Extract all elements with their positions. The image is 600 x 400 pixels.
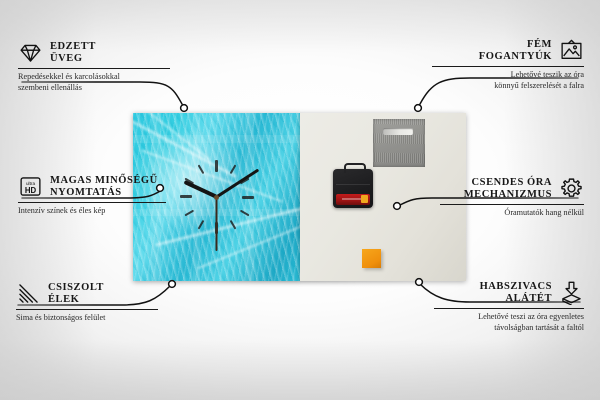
feature-divider [434,308,584,309]
feature-divider [16,309,158,310]
connector-dot-4 [415,105,422,112]
clock-second-hand [216,197,218,251]
feature-habszivacs-alatet[interactable]: HABSZIVACS ALÁTÉT Lehetővé teszi az óra … [434,280,584,333]
feature-title: CSISZOLT ÉLEK [48,282,104,306]
feature-subtitle: Lehetővé teszik az óra könnyű felszerelé… [432,70,584,91]
feature-header: CSISZOLT ÉLEK [16,281,158,306]
clock-center-pivot [214,195,219,200]
feature-csendes-ora-mechanizmus[interactable]: CSENDES ÓRA MECHANIZMUS Óramutatók hang … [440,176,584,219]
battery-label-stripe [342,198,362,200]
mechanism-grip [344,163,366,173]
feature-header: CSENDES ÓRA MECHANIZMUS [440,176,584,201]
feature-fem-fogantyuk[interactable]: FÉM FOGANTYÚK Lehetővé teszik az óra kön… [432,38,584,91]
metal-hanger-plate [373,119,425,167]
clock-mechanism [333,169,373,208]
feature-header: EDZETT ÜVEG [18,40,170,65]
feature-title: CSENDES ÓRA MECHANIZMUS [464,177,552,201]
feature-title: HABSZIVACS ALÁTÉT [480,281,552,305]
feature-divider [432,66,584,67]
feature-subtitle: Sima és biztonságos felület [16,313,158,323]
feature-title: EDZETT ÜVEG [50,41,96,65]
feature-subtitle: Intenzív színek és éles kép [18,206,166,216]
feature-subtitle: Óramutatók hang nélkül [440,208,584,218]
feature-divider [440,204,584,205]
foam-pad-arrow-icon [559,280,584,305]
feature-csiszolt-elek[interactable]: CSISZOLT ÉLEK Sima és biztonságos felüle… [16,281,158,324]
gear-icon [559,176,584,201]
feature-divider [18,68,170,69]
orange-foam-pad [362,249,381,268]
feature-subtitle: Lehetővé teszi az óra egyenletes távolsá… [434,312,584,333]
feature-subtitle: Repedésekkel és karcolásokkal szembeni e… [18,72,170,93]
feature-magas-minosegu-nyomtatas[interactable]: ultra HD MAGAS MINŐSÉGŰ NYOMTATÁS Intenz… [18,174,166,217]
feature-title: FÉM FOGANTYÚK [479,39,552,63]
picture-frame-hanger-icon [559,38,584,63]
feature-header: ultra HD MAGAS MINŐSÉGŰ NYOMTATÁS [18,174,166,199]
feature-divider [18,202,166,203]
diamond-icon [18,40,43,65]
mechanism-seam [336,184,370,185]
feature-header: FÉM FOGANTYÚK [432,38,584,63]
connector-dot-1 [181,105,188,112]
feature-edzett-uveg[interactable]: EDZETT ÜVEG Repedésekkel és karcolásokka… [18,40,170,93]
feature-title: MAGAS MINŐSÉGŰ NYOMTATÁS [50,175,158,199]
product-image [133,113,466,281]
feature-header: HABSZIVACS ALÁTÉT [434,280,584,305]
infographic-canvas: EDZETT ÜVEG Repedésekkel és karcolásokka… [0,0,600,400]
polished-edges-icon [16,281,41,306]
hanger-slot [383,128,413,135]
svg-text:HD: HD [25,186,37,195]
ultra-hd-icon: ultra HD [18,174,43,199]
battery-label [336,194,370,205]
